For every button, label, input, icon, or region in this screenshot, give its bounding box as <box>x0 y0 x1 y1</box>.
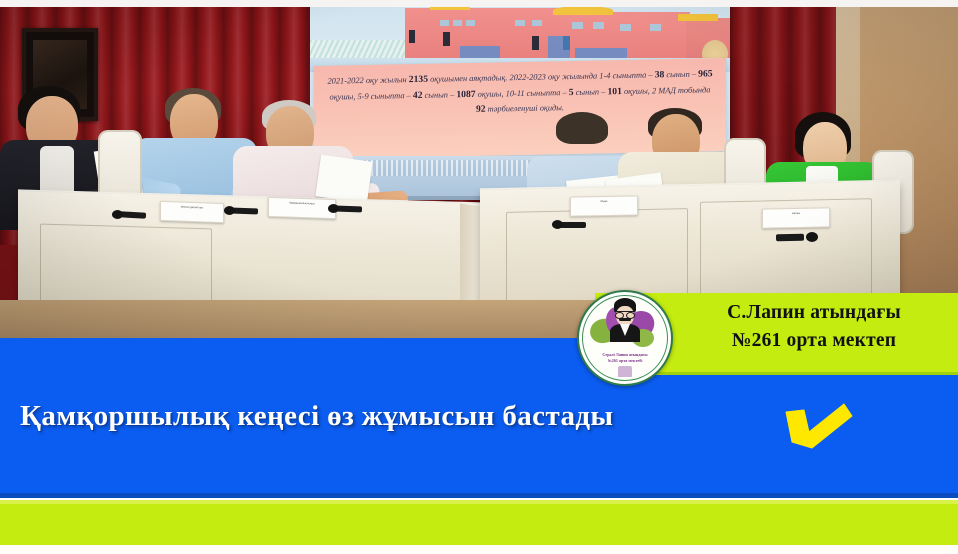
nameplate-1: Мектеп директоры <box>160 201 224 223</box>
nameplate-3: Мүше <box>570 195 638 216</box>
microphone-icon <box>560 222 586 228</box>
footer-band <box>0 500 958 545</box>
emblem-building-icon <box>618 366 632 377</box>
portrait-icon <box>610 298 640 342</box>
school-emblem: Серәлі Лапин атындағы №261 орта мектебі <box>577 290 673 386</box>
school-name-line1: С.Лапин атындағы <box>690 299 938 327</box>
school-name: С.Лапин атындағы №261 орта мектеп <box>690 299 938 354</box>
headline-text: Қамқоршылық кеңесі өз жұмысын бастады <box>20 400 790 433</box>
microphone-head-icon <box>224 206 235 215</box>
top-white-strip <box>0 0 958 7</box>
microphone-icon <box>120 211 146 218</box>
nameplate-2: Қамқоршылық кеңесі <box>268 197 336 219</box>
school-name-line2: №261 орта мектеп <box>690 327 938 355</box>
document-paper <box>315 155 372 204</box>
emblem-text-line2: №261 орта мектебі <box>586 358 664 363</box>
bottom-white-strip <box>0 545 958 554</box>
poster-image: 2021-2022 оқу жылын 2135 оқушымен аяқтад… <box>0 0 958 554</box>
microphone-head-icon <box>112 210 123 219</box>
microphone-icon <box>232 208 258 215</box>
microphone-icon <box>336 206 362 213</box>
microphone-head-icon <box>328 204 339 213</box>
emblem-text-line1: Серәлі Лапин атындағы <box>586 352 664 357</box>
microphone-head-icon <box>806 232 818 242</box>
nameplate-text: Мектеп директоры <box>163 205 221 211</box>
check-mark-icon <box>782 402 854 450</box>
microphone-icon <box>776 234 804 241</box>
microphone-head-icon <box>552 220 563 229</box>
nameplate-4: Хатшы <box>762 207 830 228</box>
nameplate-text: Қамқоршылық кеңесі <box>271 201 333 207</box>
nameplate-text: Мүше <box>573 199 635 204</box>
meeting-photo: 2021-2022 оқу жылын 2135 оқушымен аяқтад… <box>0 0 958 340</box>
nameplate-text: Хатшы <box>765 211 827 216</box>
